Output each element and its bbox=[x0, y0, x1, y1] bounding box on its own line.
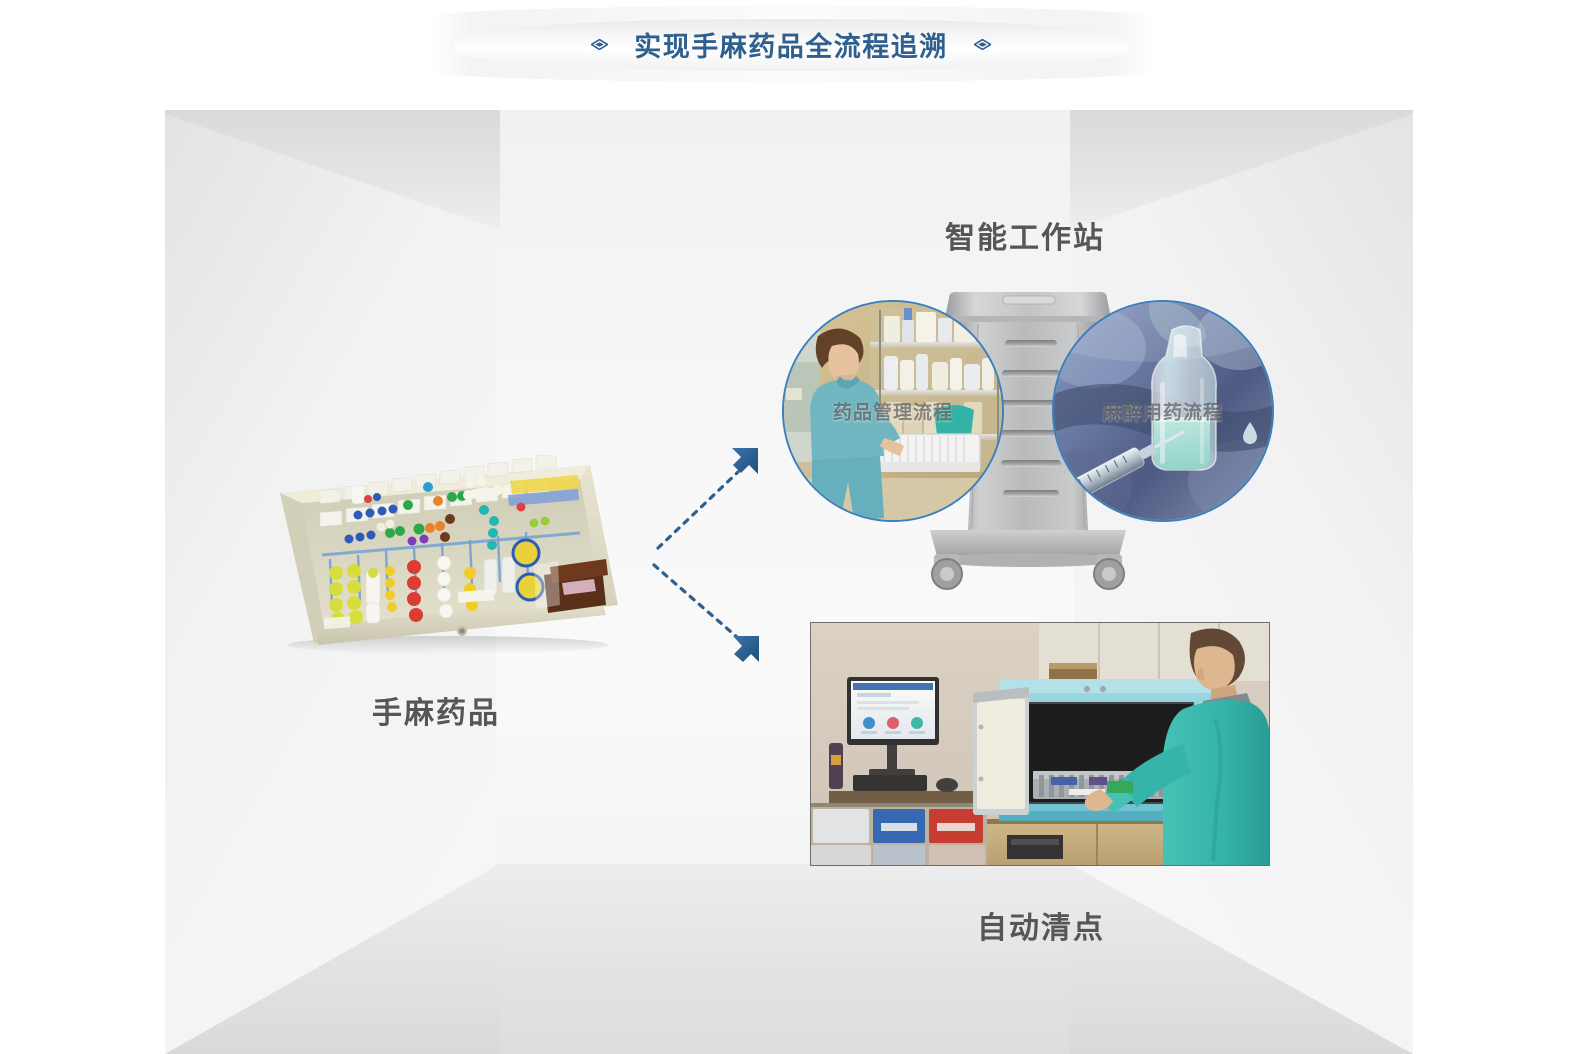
rfid-counting-cabinet-photo bbox=[810, 622, 1270, 866]
arrow-to-cabinet bbox=[654, 565, 759, 662]
title-banner: 实现手麻药品全流程追溯 bbox=[430, 6, 1152, 82]
arrow-to-workstation bbox=[658, 448, 758, 548]
workstation-label: 智能工作站 bbox=[945, 213, 1105, 257]
slide-root: 实现手麻药品全流程追溯 bbox=[0, 0, 1580, 1054]
diamond-ornament-right-icon bbox=[974, 39, 991, 50]
workstation-circle-caption-0: 药品管理流程 bbox=[784, 398, 1002, 425]
cabinet-label: 自动清点 bbox=[977, 903, 1105, 947]
nurse-with-drug-tray-photo: 药品管理流程 bbox=[782, 300, 1004, 522]
smart-workstation-cart-image: 药品管理流程 bbox=[778, 278, 1278, 598]
medication-tray-label: 手麻药品 bbox=[372, 688, 500, 732]
vial-and-syringe-photo: 麻醉用药流程 bbox=[1052, 300, 1274, 522]
workstation-circle-caption-1: 麻醉用药流程 bbox=[1054, 398, 1272, 425]
page-title: 实现手麻药品全流程追溯 bbox=[634, 25, 948, 64]
diamond-ornament-left-icon bbox=[591, 39, 608, 50]
stage-floor-back bbox=[495, 864, 1075, 1054]
medication-tray-image bbox=[262, 455, 622, 655]
